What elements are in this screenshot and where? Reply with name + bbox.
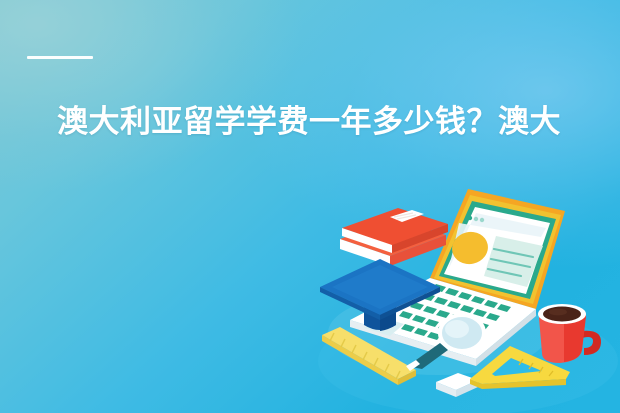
stacked-books-icon	[340, 208, 448, 266]
screen-dot-3	[480, 218, 484, 222]
promo-banner: 澳大利亚留学学费一年多少钱？澳大	[0, 0, 620, 413]
accent-rule	[27, 56, 93, 59]
screen-dot-1	[468, 216, 472, 220]
page-title: 澳大利亚留学学费一年多少钱？澳大	[57, 103, 620, 141]
screen-dot-2	[474, 217, 478, 221]
study-desk-illustration	[318, 183, 620, 413]
